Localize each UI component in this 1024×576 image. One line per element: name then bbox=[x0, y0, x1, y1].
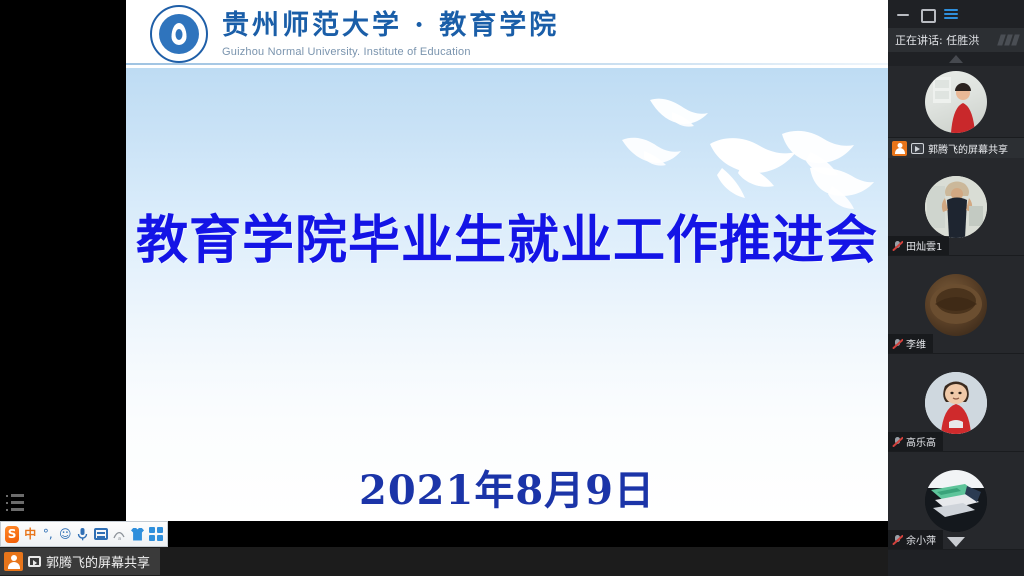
participants-scroll-up[interactable] bbox=[888, 52, 1024, 66]
meeting-panel: 正在讲话: 任胜洪 bbox=[888, 0, 1024, 576]
slide-header-text: 贵州师范大学 · 教育学院 Guizhou Normal University.… bbox=[222, 10, 559, 57]
org-name-en: Guizhou Normal University. Institute of … bbox=[222, 46, 559, 58]
taskbar: 郭腾飞的屏幕共享 bbox=[0, 547, 888, 576]
keyboard-icon[interactable] bbox=[94, 526, 108, 543]
person-icon bbox=[4, 552, 23, 571]
header-divider bbox=[126, 63, 888, 65]
slide-body: 教育学院毕业生就业工作推进会 2021年8月9日 bbox=[126, 68, 888, 521]
avatar bbox=[925, 470, 987, 532]
screen-root: 贵州师范大学 · 教育学院 Guizhou Normal University.… bbox=[0, 0, 1024, 576]
desktop-list-icon[interactable] bbox=[6, 494, 28, 516]
speaking-status-bar: 正在讲话: 任胜洪 bbox=[888, 28, 1024, 52]
person-icon bbox=[892, 141, 907, 156]
shared-screen-slide: 贵州师范大学 · 教育学院 Guizhou Normal University.… bbox=[126, 0, 888, 521]
hamburger-menu-icon[interactable] bbox=[944, 7, 958, 21]
participant-tile[interactable]: 李维 bbox=[888, 256, 1024, 354]
grid-toolbox-icon[interactable] bbox=[149, 526, 163, 543]
mic-muted-icon bbox=[892, 338, 903, 349]
participant-tile[interactable]: 高乐高 bbox=[888, 354, 1024, 452]
slide-header: 贵州师范大学 · 教育学院 Guizhou Normal University.… bbox=[126, 0, 888, 68]
participant-name: 李维 bbox=[906, 336, 926, 351]
participant-name-badge: 李维 bbox=[888, 334, 933, 353]
mic-muted-icon bbox=[892, 436, 903, 447]
participant-tile[interactable]: 田灿雲1 bbox=[888, 158, 1024, 256]
avatar bbox=[925, 274, 987, 336]
screen-share-icon bbox=[28, 556, 41, 567]
taskbar-item-label: 郭腾飞的屏幕共享 bbox=[46, 552, 150, 571]
panel-titlebar bbox=[888, 0, 1024, 28]
chevron-up-icon bbox=[949, 55, 963, 63]
audio-wave-icon bbox=[999, 35, 1018, 46]
chevron-down-icon bbox=[947, 537, 965, 547]
mic-muted-icon bbox=[892, 240, 903, 251]
flying-doves-icon bbox=[614, 82, 874, 217]
participant-name: 高乐高 bbox=[906, 434, 936, 449]
avatar bbox=[925, 372, 987, 434]
chinese-mode-icon[interactable]: 中 bbox=[24, 526, 36, 543]
desktop-background-left bbox=[0, 0, 126, 521]
sogou-ime-toolbar[interactable]: S 中 °, ☺ a bbox=[0, 521, 168, 547]
screen-share-icon bbox=[911, 143, 924, 154]
taskbar-item-screenshare[interactable]: 郭腾飞的屏幕共享 bbox=[0, 548, 160, 575]
smiley-icon[interactable]: ☺ bbox=[59, 526, 72, 543]
page-title: 教育学院毕业生就业工作推进会 bbox=[126, 198, 888, 273]
participant-name: 田灿雲1 bbox=[906, 238, 942, 253]
slide-date: 2021年8月9日 bbox=[126, 458, 888, 516]
participant-tiles: 郭腾飞的屏幕共享 田灿 bbox=[888, 66, 1024, 550]
participant-name-badge: 高乐高 bbox=[888, 432, 943, 451]
shirt-icon[interactable] bbox=[131, 526, 144, 543]
participants-scroll-down[interactable] bbox=[888, 532, 1024, 552]
university-seal-icon bbox=[150, 5, 208, 63]
participant-name-badge: 田灿雲1 bbox=[888, 236, 949, 255]
screen-share-label: 郭腾飞的屏幕共享 bbox=[928, 141, 1008, 156]
svg-text:a: a bbox=[118, 536, 121, 541]
restore-icon[interactable] bbox=[920, 7, 934, 21]
handwriting-icon[interactable]: a bbox=[113, 526, 126, 543]
org-name-cn: 贵州师范大学 · 教育学院 bbox=[222, 10, 559, 41]
participant-tile[interactable] bbox=[888, 66, 1024, 138]
sogou-logo-icon[interactable]: S bbox=[5, 526, 19, 543]
avatar bbox=[925, 176, 987, 238]
avatar bbox=[925, 71, 987, 133]
screen-share-row[interactable]: 郭腾飞的屏幕共享 bbox=[888, 138, 1024, 158]
microphone-icon[interactable] bbox=[76, 526, 88, 543]
minimize-icon[interactable] bbox=[896, 7, 910, 21]
speaking-status-text: 正在讲话: 任胜洪 bbox=[895, 32, 979, 48]
punctuation-icon[interactable]: °, bbox=[42, 526, 54, 543]
